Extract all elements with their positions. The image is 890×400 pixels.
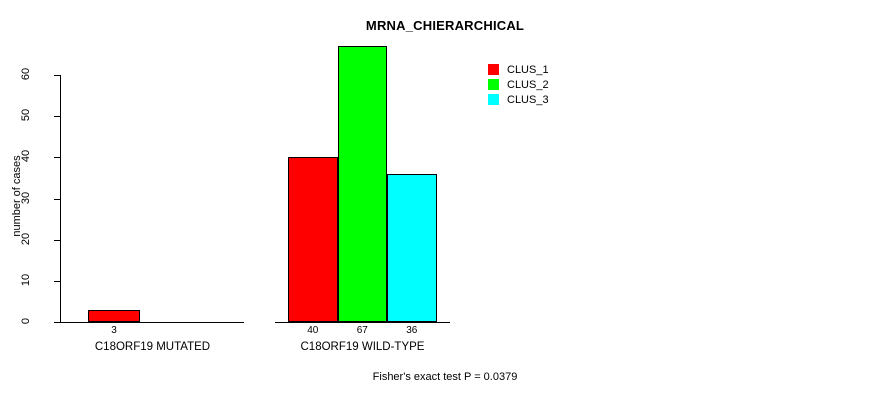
legend-item[interactable]: CLUS_2 — [488, 77, 549, 92]
legend-item-label: CLUS_2 — [507, 79, 549, 91]
bar-value-label: 40 — [288, 325, 338, 336]
y-axis-tick-label: 20 — [20, 219, 32, 259]
y-axis-tick-mark — [54, 157, 61, 158]
bar[interactable] — [387, 174, 437, 322]
y-axis-tick-mark — [54, 240, 61, 241]
y-axis-tick-label: 50 — [20, 95, 32, 135]
legend: CLUS_1CLUS_2CLUS_3 — [488, 62, 549, 107]
y-axis-tick-label: 60 — [20, 54, 32, 94]
x-axis-line — [275, 322, 450, 323]
y-axis-tick-label: 40 — [20, 136, 32, 176]
y-axis-tick-label: 0 — [20, 301, 32, 341]
y-axis-tick-label: 30 — [20, 178, 32, 218]
legend-item[interactable]: CLUS_3 — [488, 92, 549, 107]
bar-value-label: 36 — [387, 325, 437, 336]
bar[interactable] — [288, 157, 338, 322]
legend-color-swatch-icon — [488, 64, 499, 75]
x-axis-group-label: C18ORF19 MUTATED — [61, 341, 244, 353]
bar[interactable] — [338, 46, 388, 322]
legend-item-label: CLUS_3 — [507, 94, 549, 106]
y-axis-tick-mark — [54, 75, 61, 76]
legend-item-label: CLUS_1 — [507, 64, 549, 76]
chart-canvas: MRNA_CHIERARCHICAL number of cases 01020… — [0, 0, 890, 400]
bar-value-label: 3 — [88, 325, 140, 336]
x-axis-group-label: C18ORF19 WILD-TYPE — [275, 341, 450, 353]
legend-item[interactable]: CLUS_1 — [488, 62, 549, 77]
x-axis-line — [61, 322, 244, 323]
bar-value-label: 67 — [338, 325, 388, 336]
y-axis-tick-mark — [54, 116, 61, 117]
statistical-test-annotation: Fisher's exact test P = 0.0379 — [0, 371, 890, 383]
y-axis-tick-mark — [54, 322, 61, 323]
legend-color-swatch-icon — [488, 94, 499, 105]
y-axis-tick-mark — [54, 281, 61, 282]
plot-area: number of cases 0102030405060 3C18ORF19 … — [0, 0, 890, 400]
legend-color-swatch-icon — [488, 79, 499, 90]
y-axis-tick-mark — [54, 199, 61, 200]
y-axis-tick-label: 10 — [20, 260, 32, 300]
bar[interactable] — [88, 310, 140, 322]
